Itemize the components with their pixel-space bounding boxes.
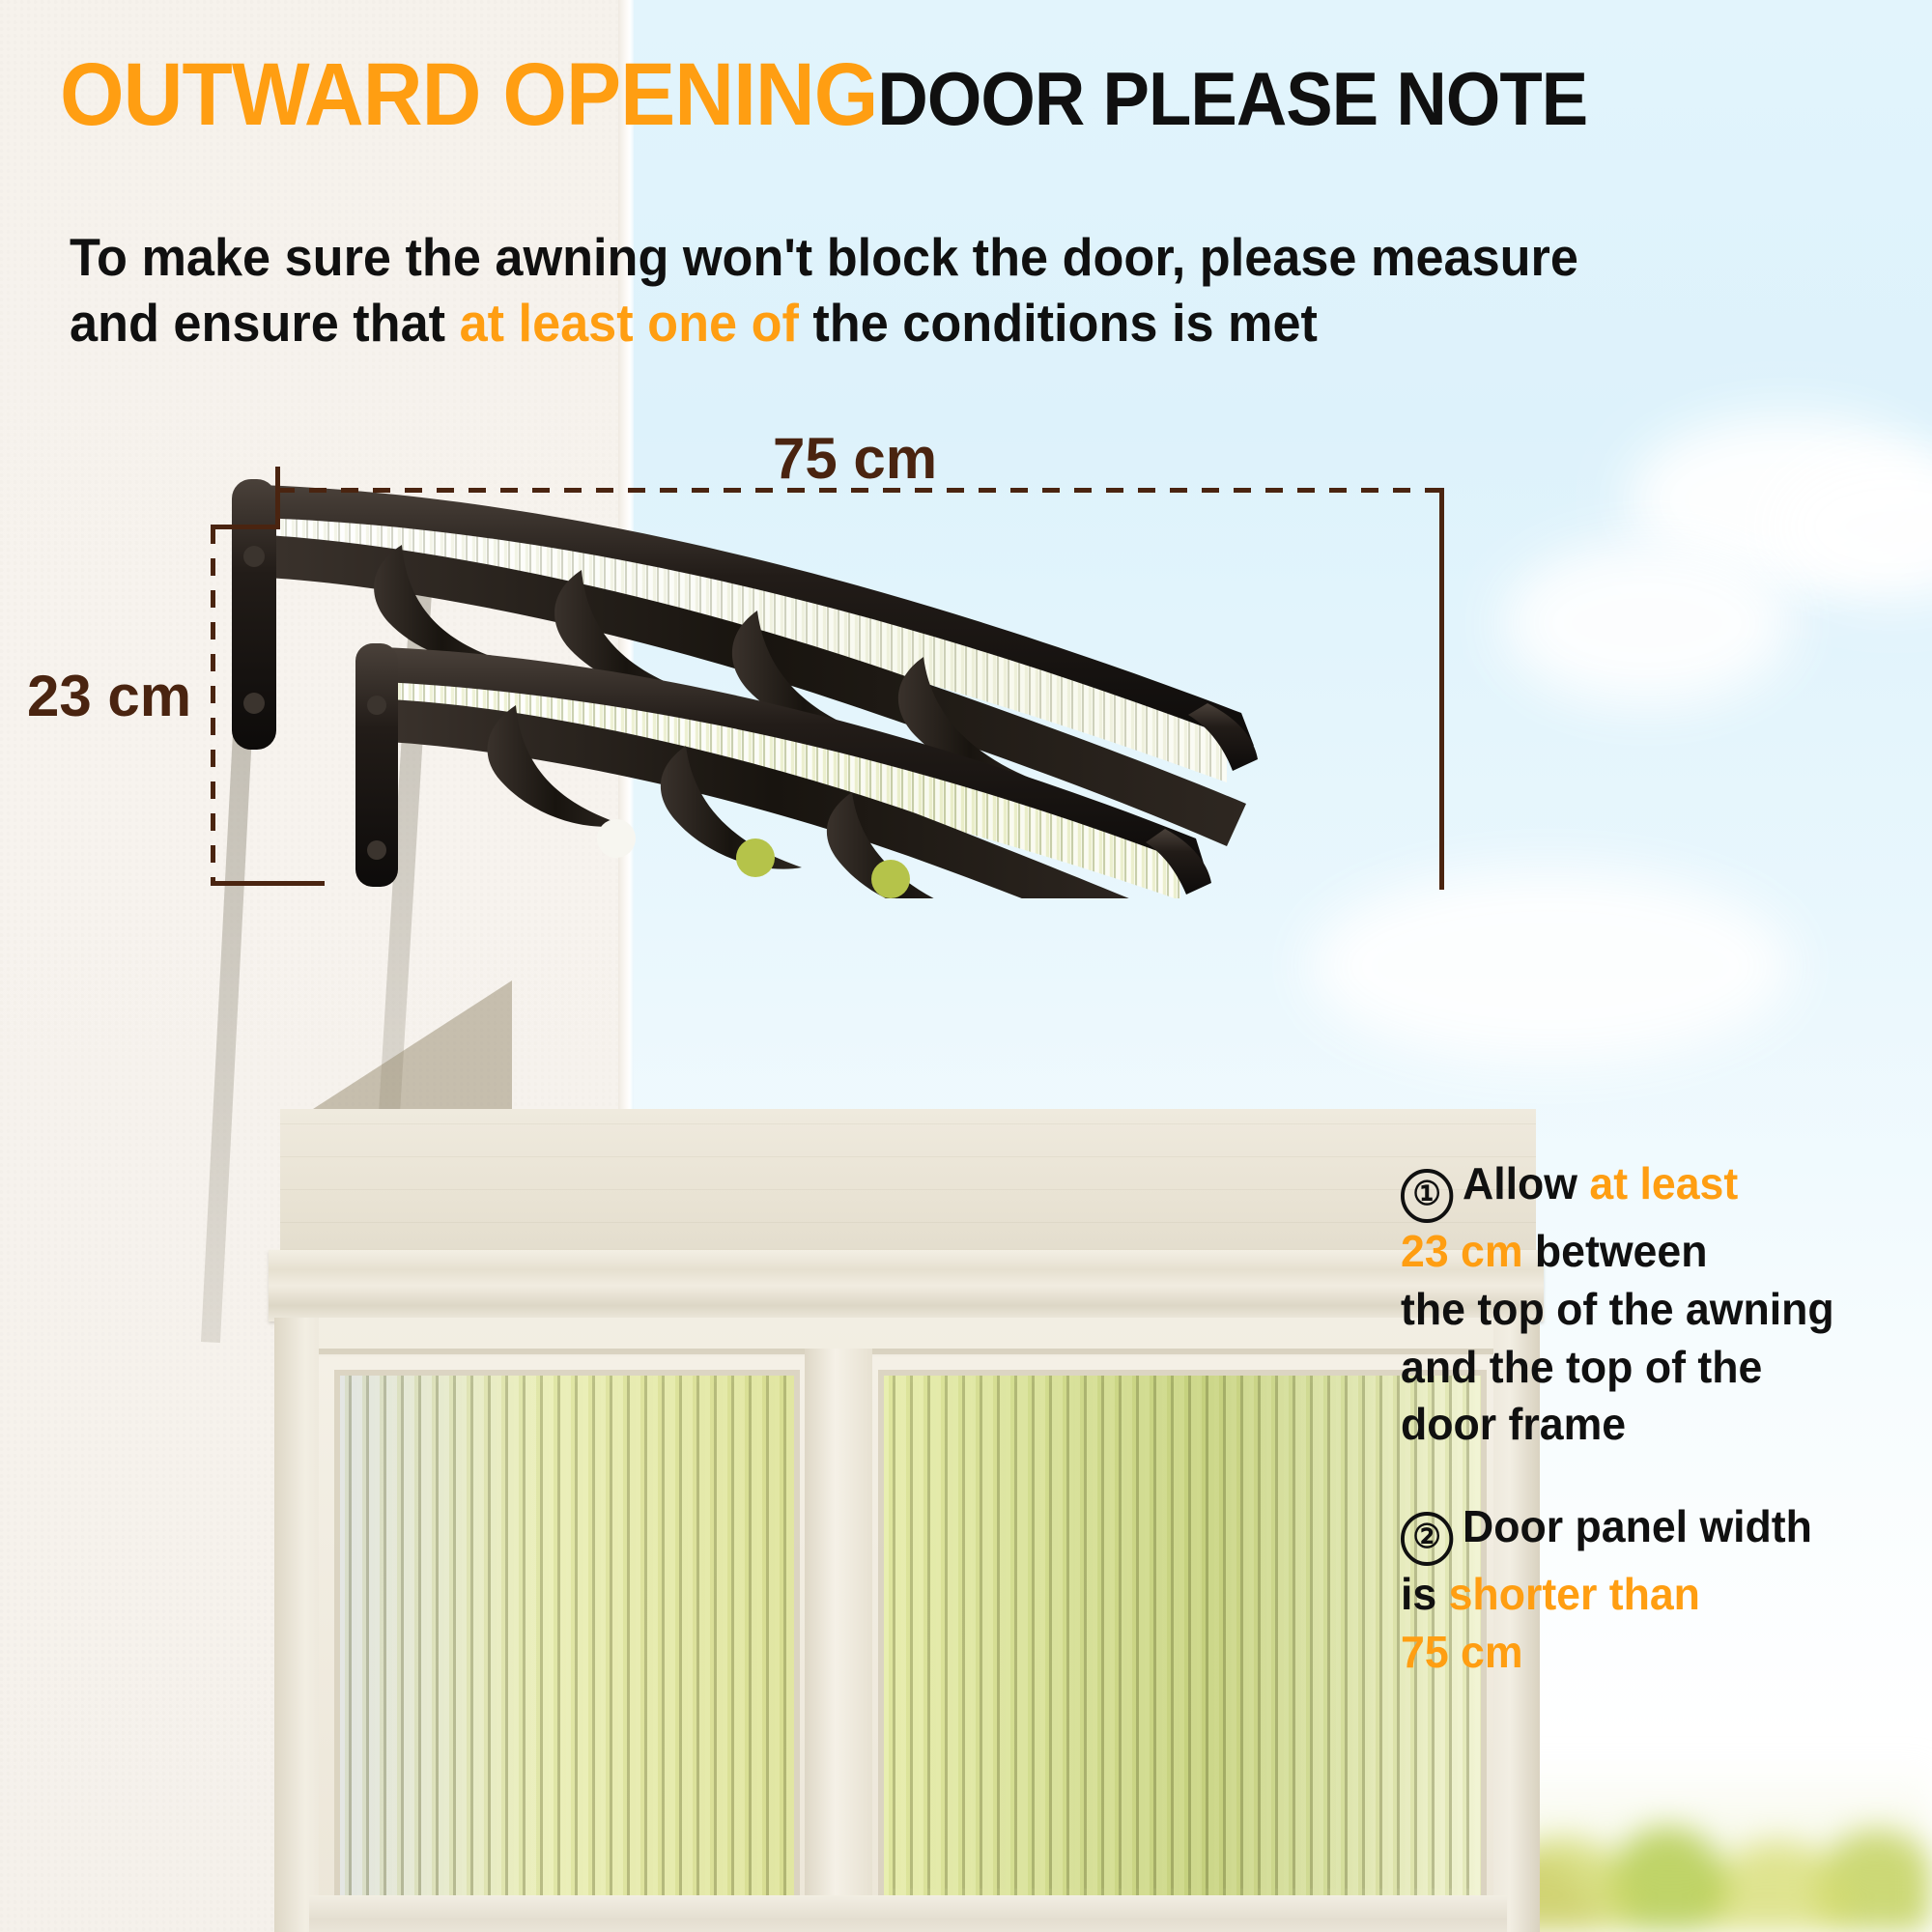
condition-item-1: ①Allow at least 23 cm between the top of… — [1401, 1155, 1907, 1454]
bracket-hole — [597, 819, 636, 858]
door-glass-panel-right — [884, 1376, 1481, 1895]
door-mullion — [805, 1349, 872, 1932]
dimension-cap-bottom — [211, 881, 325, 886]
dimension-line-depth — [211, 526, 215, 886]
subtitle-line-1: To make sure the awning won't block the … — [70, 224, 1758, 290]
title-rest: DOOR PLEASE NOTE — [877, 56, 1587, 141]
door-cornice-moulding — [269, 1250, 1544, 1321]
subtitle-text-a: and ensure that — [70, 293, 460, 353]
subtitle-highlight: at least one of — [460, 293, 799, 353]
page-subtitle: To make sure the awning won't block the … — [70, 224, 1758, 355]
title-highlight: OUTWARD OPENING — [60, 45, 877, 144]
subtitle-text-b: the conditions is met — [799, 293, 1318, 353]
infographic-canvas: OUTWARD OPENINGDOOR PLEASE NOTE To make … — [0, 0, 1932, 1932]
bracket-hole — [871, 860, 910, 898]
dimension-tick-top-left — [275, 467, 280, 525]
bracket-hole — [736, 838, 775, 877]
condition-2-text-a: Door panel width — [1463, 1501, 1812, 1551]
cloud-shape — [1309, 869, 1792, 1063]
shadow-wedge — [280, 980, 512, 1130]
condition-1-highlight-2: 23 cm — [1401, 1226, 1523, 1276]
condition-2-text-b: is — [1401, 1569, 1449, 1619]
condition-1-text-e: door frame — [1401, 1399, 1626, 1449]
condition-1-highlight-1: at least — [1589, 1158, 1738, 1208]
condition-2-highlight-2: 75 cm — [1401, 1627, 1523, 1677]
dimension-label-width: 75 cm — [773, 425, 937, 492]
conditions-list: ①Allow at least 23 cm between the top of… — [1401, 1155, 1907, 1726]
door-glass-panel-left — [340, 1376, 794, 1907]
cloud-shape — [1502, 541, 1792, 705]
subtitle-line-2: and ensure that at least one of the cond… — [70, 290, 1758, 355]
condition-1-text-d: and the top of the — [1401, 1342, 1762, 1392]
condition-1-text-c: the top of the awning — [1401, 1284, 1834, 1334]
marker-two-icon: ② — [1401, 1512, 1453, 1566]
dimension-label-depth: 23 cm — [27, 663, 191, 729]
door-lintel — [280, 1109, 1536, 1256]
dimension-line-right-vertical — [1439, 488, 1444, 890]
awning-product-illustration — [203, 464, 1478, 898]
condition-1-text-b: between — [1523, 1226, 1708, 1276]
condition-item-2: ②Door panel width is shorter than 75 cm — [1401, 1498, 1907, 1682]
door-mid-rail — [309, 1895, 1507, 1932]
door-jamb-left — [274, 1318, 319, 1932]
condition-1-text-a: Allow — [1463, 1158, 1589, 1208]
condition-2-highlight-1: shorter than — [1449, 1569, 1700, 1619]
page-title: OUTWARD OPENINGDOOR PLEASE NOTE — [60, 50, 1767, 139]
dimension-cap-top — [211, 525, 280, 529]
marker-one-icon: ① — [1401, 1169, 1453, 1223]
